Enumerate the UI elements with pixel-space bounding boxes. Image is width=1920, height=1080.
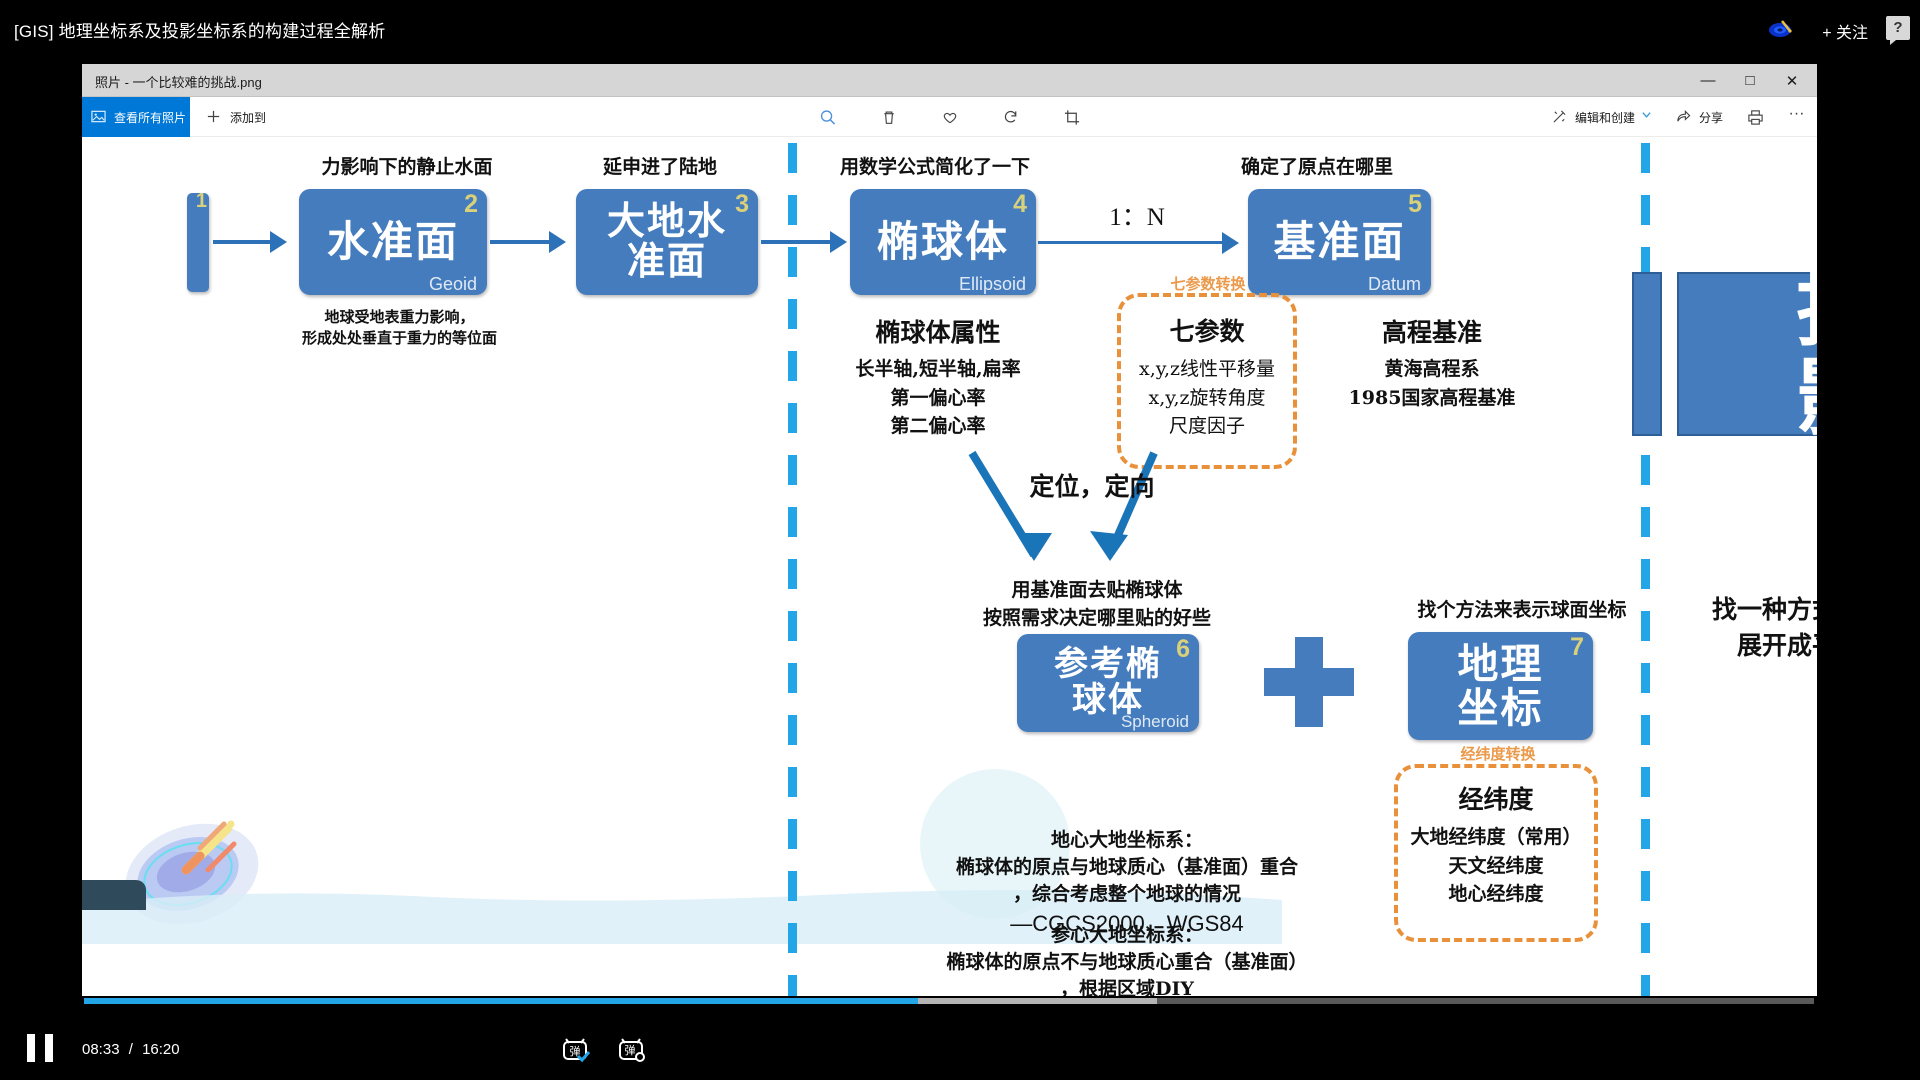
- ellipsoid-prop-line: 第一偏心率: [808, 384, 1068, 413]
- seven-params-line: x,y,z线性平移量: [1107, 355, 1307, 384]
- latlon-title: 经纬度: [1394, 780, 1598, 816]
- pause-icon[interactable]: [27, 1034, 53, 1062]
- top-bar: [GIS] 地理坐标系及投影坐标系的构建过程全解析 + 关注 ?: [0, 0, 1920, 56]
- time-display: 08:33 / 16:20: [82, 1041, 180, 1058]
- photo-library-icon: [91, 109, 108, 126]
- geocentric-line: 椭球体的原点与地球质心（基准面）重合: [857, 854, 1397, 881]
- arrow-1-line: [213, 240, 273, 244]
- latlon-line: 天文经纬度: [1382, 852, 1610, 881]
- box-ellipsoid-number: 4: [1013, 191, 1027, 218]
- box-geographic-coord-number: 7: [1570, 634, 1584, 661]
- box-projection: 投 影: [1677, 272, 1817, 436]
- box-spheroid-label: 参考椭 球体: [1054, 647, 1162, 718]
- refcentric-block: 参心大地坐标系： 椭球体的原点不与地球质心重合（基准面） ，根据区域DIY —B…: [847, 922, 1407, 996]
- refcentric-line: ，根据区域DIY: [847, 976, 1407, 996]
- latlon-dash-label: 经纬度转换: [1398, 743, 1598, 764]
- favorite-heart-icon[interactable]: [941, 109, 958, 126]
- seven-params-title: 七参数: [1117, 312, 1297, 348]
- box-ellipsoid-label: 椭球体: [877, 220, 1009, 265]
- arrow-4-line: [1038, 241, 1228, 244]
- photo-tools-group: [819, 97, 1080, 137]
- maximize-icon[interactable]: □: [1729, 64, 1771, 97]
- box-datum-label: 基准面: [1273, 220, 1405, 265]
- caption-below-geoid: 地球受地表重力影响， 形成处处垂直于重力的等位面: [282, 307, 517, 348]
- window-title: 照片 - 一个比较难的挑战.png: [95, 72, 262, 91]
- avatar[interactable]: [1768, 17, 1794, 41]
- projection-left-bar: [1632, 272, 1662, 436]
- slide-canvas: 力影响下的静止水面 延申进了陆地 用数学公式简化了一下 确定了原点在哪里 1 水…: [82, 137, 1817, 996]
- ratio-label: 1：N: [1082, 197, 1192, 233]
- box-geographic-coord-label: 地理 坐标: [1458, 642, 1544, 731]
- progress-bar[interactable]: [84, 998, 1814, 1004]
- box-geoid-label: 水准面: [327, 220, 459, 265]
- seven-params-dash-label: 七参数转换: [1118, 273, 1298, 294]
- video-stage[interactable]: 照片 - 一个比较难的挑战.png — □ ✕ 查看所有照片: [0, 56, 1920, 1006]
- refcentric-title: 参心大地坐标系：: [847, 922, 1407, 949]
- edit-create-label: 编辑和创建: [1575, 109, 1635, 126]
- chevron-down-icon: [1641, 109, 1652, 126]
- plus-symbol: [1264, 637, 1354, 727]
- box-datum-number: 5: [1408, 191, 1422, 218]
- box-spheroid-en: Spheroid: [1121, 713, 1189, 731]
- height-datum-line: 1985国家高程基准: [1310, 384, 1554, 413]
- window-controls: — □ ✕: [1687, 64, 1813, 97]
- photo-toolbar-right: 编辑和创建 分享 ···: [1552, 97, 1805, 137]
- arrow-3-line: [761, 240, 833, 244]
- caption-above-geoid: 力影响下的静止水面: [282, 152, 532, 179]
- player-control-bar: 08:33 / 16:20 弹 弹: [0, 1016, 1920, 1080]
- photo-toolbar: 查看所有照片 添加到: [82, 97, 1817, 137]
- latlon-lines: 大地经纬度（常用） 天文经纬度 地心经纬度: [1382, 823, 1610, 909]
- help-icon[interactable]: ?: [1886, 16, 1910, 40]
- ellipsoid-props-title: 椭球体属性: [818, 313, 1058, 349]
- photo-viewer-window: 照片 - 一个比较难的挑战.png — □ ✕ 查看所有照片: [82, 64, 1817, 996]
- geocentric-title: 地心大地坐标系：: [857, 827, 1397, 854]
- share-icon: [1676, 109, 1693, 126]
- caption-locate-orient: 定位，定向: [1002, 467, 1182, 503]
- divider-right: [1641, 143, 1650, 996]
- follow-button[interactable]: + 关注: [1822, 19, 1868, 43]
- current-time: 08:33: [82, 1041, 120, 1058]
- crop-icon[interactable]: [1063, 109, 1080, 126]
- height-datum-line: 黄海高程系: [1310, 355, 1554, 384]
- latlon-line: 地心经纬度: [1382, 880, 1610, 909]
- plus-icon: [206, 109, 223, 126]
- seven-params-lines: x,y,z线性平移量 x,y,z旋转角度 尺度因子: [1107, 355, 1307, 441]
- height-datum-title: 高程基准: [1322, 313, 1542, 349]
- magic-wand-icon: [1552, 109, 1569, 126]
- zoom-icon[interactable]: [819, 109, 836, 126]
- ellipsoid-prop-line: 第二偏心率: [808, 412, 1068, 441]
- svg-text:弹: 弹: [625, 1043, 636, 1057]
- add-to-button[interactable]: 添加到: [206, 97, 266, 137]
- box-level-surface-label: 大地水 准面: [607, 202, 727, 283]
- arrow-2-head: [549, 231, 566, 253]
- add-to-label: 添加到: [230, 109, 266, 126]
- app-root: [GIS] 地理坐标系及投影坐标系的构建过程全解析 + 关注 ? 照片 - 一个…: [0, 0, 1920, 1080]
- danmaku-settings-icon[interactable]: 弹: [616, 1036, 646, 1064]
- box-geoid: 水准面 2 Geoid: [299, 189, 487, 295]
- arrow-2-line: [490, 240, 552, 244]
- height-datum-lines: 黄海高程系 1985国家高程基准: [1310, 355, 1554, 412]
- progress-played: [84, 998, 918, 1004]
- ellipsoid-prop-line: 长半轴,短半轴,扁率: [808, 355, 1068, 384]
- refcentric-line: 椭球体的原点不与地球质心重合（基准面）: [847, 949, 1407, 976]
- caption-above-datum: 确定了原点在哪里: [1192, 152, 1442, 179]
- box-ellipsoid: 椭球体 4 Ellipsoid: [850, 189, 1036, 295]
- box-level-surface: 大地水 准面 3: [576, 189, 758, 295]
- caption-unfold: 找一种方式将 展开成平: [1672, 592, 1817, 665]
- arrow-1-head: [270, 231, 287, 253]
- caption-find-method: 找个方法来表示球面坐标: [1372, 595, 1672, 622]
- box-1-number: 1: [196, 191, 207, 212]
- share-button[interactable]: 分享: [1676, 109, 1723, 126]
- box-geoid-number: 2: [464, 191, 478, 218]
- box-projection-label: 投 影: [1721, 265, 1817, 443]
- box-level-surface-number: 3: [735, 191, 749, 218]
- caption-attach: 用基准面去贴椭球体 按照需求决定哪里贴的好些: [927, 577, 1267, 632]
- window-title-bar: 照片 - 一个比较难的挑战.png — □ ✕: [82, 64, 1817, 97]
- caption-above-ellipsoid: 用数学公式简化了一下: [800, 152, 1070, 179]
- view-all-photos-button[interactable]: 查看所有照片: [82, 97, 190, 137]
- danmaku-on-icon[interactable]: 弹: [560, 1036, 590, 1064]
- print-icon[interactable]: [1747, 109, 1764, 126]
- box-1: 1: [187, 193, 209, 292]
- time-separator: /: [129, 1041, 133, 1058]
- box-spheroid: 参考椭 球体 6 Spheroid: [1017, 634, 1199, 732]
- box-geoid-en: Geoid: [429, 275, 477, 294]
- edit-create-button[interactable]: 编辑和创建: [1552, 109, 1652, 126]
- arrow-3-head: [830, 231, 847, 253]
- danmaku-toggle-group: 弹 弹: [560, 1036, 646, 1064]
- box-geographic-coord: 地理 坐标 7: [1408, 632, 1593, 740]
- share-label: 分享: [1699, 109, 1723, 126]
- seven-params-line: 尺度因子: [1107, 412, 1307, 441]
- view-all-photos-label: 查看所有照片: [114, 109, 186, 126]
- box-ellipsoid-en: Ellipsoid: [959, 275, 1026, 294]
- ellipsoid-props-lines: 长半轴,短半轴,扁率 第一偏心率 第二偏心率: [808, 355, 1068, 441]
- more-icon[interactable]: ···: [1788, 109, 1805, 126]
- total-duration: 16:20: [142, 1041, 180, 1058]
- delete-icon[interactable]: [880, 109, 897, 126]
- geocentric-line: ，综合考虑整个地球的情况: [857, 881, 1397, 908]
- arrow-4-head: [1222, 232, 1239, 254]
- seven-params-line: x,y,z旋转角度: [1107, 384, 1307, 413]
- caption-above-level: 延申进了陆地: [550, 152, 770, 179]
- latlon-line: 大地经纬度（常用）: [1382, 823, 1610, 852]
- divider-left: [788, 143, 797, 996]
- rotate-icon[interactable]: [1002, 109, 1019, 126]
- page-title: [GIS] 地理坐标系及投影坐标系的构建过程全解析: [14, 17, 385, 42]
- box-spheroid-number: 6: [1176, 636, 1190, 663]
- minimize-icon[interactable]: —: [1687, 64, 1729, 97]
- box-datum-en: Datum: [1368, 275, 1421, 294]
- close-icon[interactable]: ✕: [1771, 64, 1813, 97]
